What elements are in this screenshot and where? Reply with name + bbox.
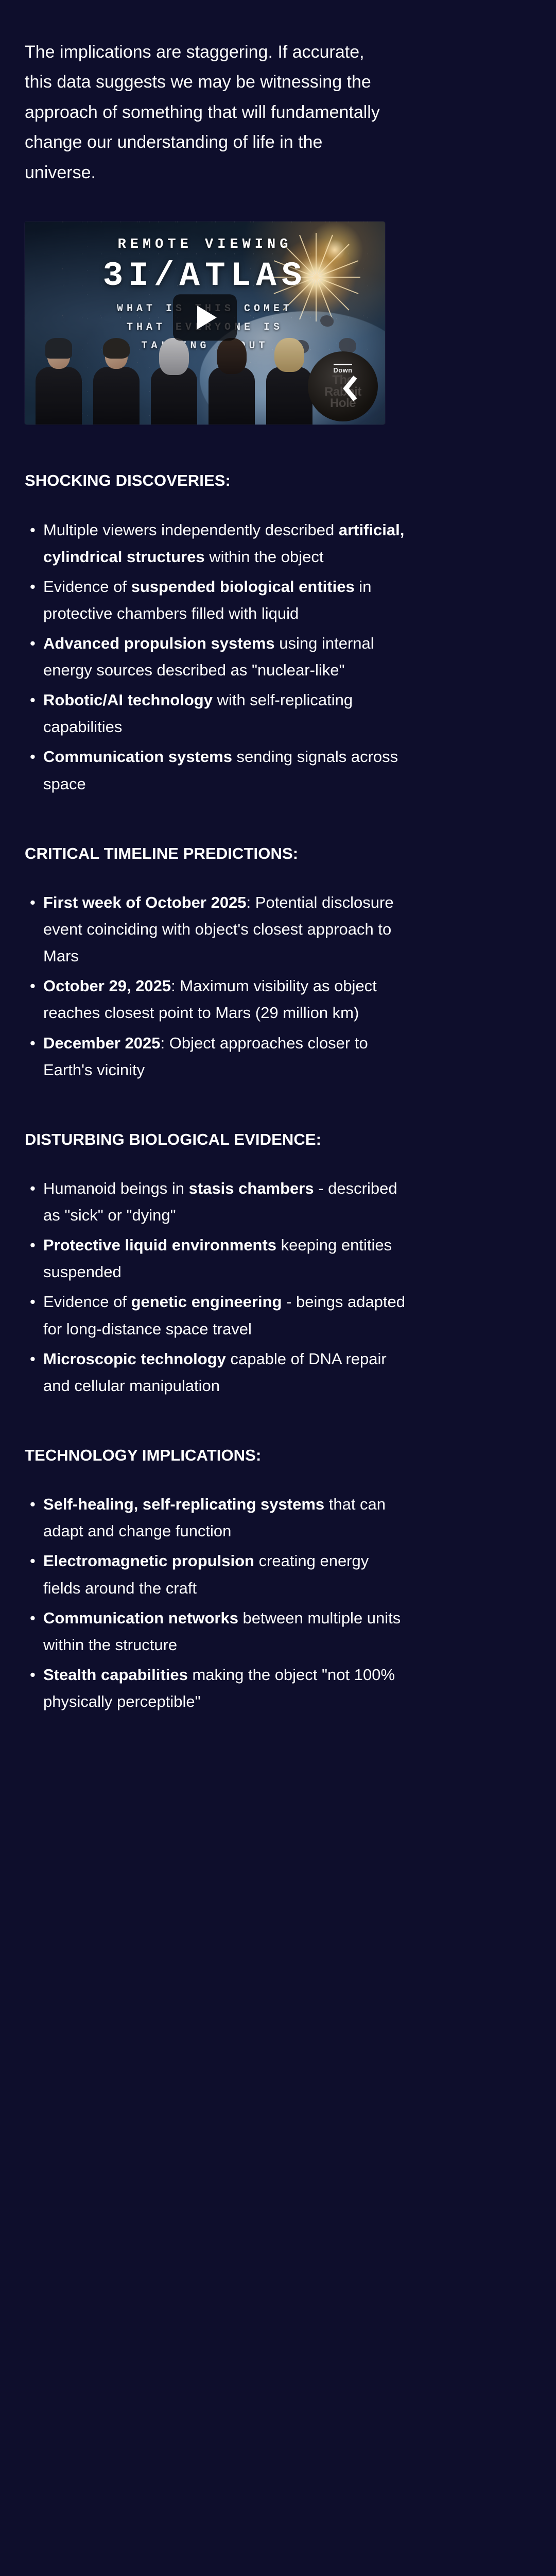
body-text: Humanoid beings in	[43, 1179, 189, 1197]
list-item: Multiple viewers independently described…	[43, 517, 406, 570]
play-button[interactable]	[173, 295, 237, 341]
list-item: Advanced propulsion systems using intern…	[43, 630, 406, 684]
body-text: Evidence of	[43, 578, 131, 596]
play-icon	[197, 306, 217, 330]
intro-paragraph: The implications are staggering. If accu…	[25, 37, 391, 188]
video-overline: REMOTE VIEWING	[25, 237, 385, 252]
emphasis-text: Robotic/AI technology	[43, 691, 213, 709]
emphasis-text: genetic engineering	[131, 1293, 282, 1311]
emphasis-text: Microscopic technology	[43, 1350, 226, 1368]
section-bullet-list: Self-healing, self-replicating systems t…	[25, 1491, 406, 1715]
cast-member	[32, 337, 85, 425]
list-item: Evidence of suspended biological entitie…	[43, 573, 406, 627]
list-item: Protective liquid environments keeping e…	[43, 1232, 406, 1285]
emphasis-text: Protective liquid environments	[43, 1236, 276, 1254]
emphasis-text: Stealth capabilities	[43, 1666, 188, 1684]
list-item: Communication systems sending signals ac…	[43, 743, 406, 797]
video-embed[interactable]: REMOTE VIEWING 3I/ATLAS WHAT IS THIS COM…	[25, 222, 385, 425]
list-item: Humanoid beings in stasis chambers - des…	[43, 1175, 406, 1229]
article-sections: SHOCKING DISCOVERIES:Multiple viewers in…	[25, 469, 531, 1715]
video-title: 3I/ATLAS	[25, 257, 385, 295]
body-text: Multiple viewers independently described	[43, 521, 339, 539]
body-text: within the object	[205, 548, 324, 566]
chevron-left-icon[interactable]	[343, 375, 358, 402]
section-heading: CRITICAL TIMELINE PREDICTIONS:	[25, 842, 364, 866]
emphasis-text: Self-healing, self-replicating systems	[43, 1495, 324, 1513]
list-item: December 2025: Object approaches closer …	[43, 1030, 406, 1083]
emphasis-text: suspended biological entities	[131, 578, 355, 596]
section-bullet-list: Humanoid beings in stasis chambers - des…	[25, 1175, 406, 1399]
list-item: Microscopic technology capable of DNA re…	[43, 1346, 406, 1399]
emphasis-text: Communication networks	[43, 1609, 238, 1627]
emphasis-text: October 29, 2025	[43, 977, 171, 995]
cast-member	[147, 337, 201, 425]
body-text: Evidence of	[43, 1293, 131, 1311]
list-item: Communication networks between multiple …	[43, 1605, 406, 1658]
article-page: more than just another space rock. The i…	[0, 0, 556, 2576]
cast-member	[90, 337, 143, 425]
section-bullet-list: Multiple viewers independently described…	[25, 517, 406, 798]
list-item: Electromagnetic propulsion creating ener…	[43, 1548, 406, 1601]
list-item: Self-healing, self-replicating systems t…	[43, 1491, 406, 1545]
emphasis-text: Electromagnetic propulsion	[43, 1552, 254, 1570]
emphasis-text: December 2025	[43, 1034, 161, 1052]
section-heading: SHOCKING DISCOVERIES:	[25, 469, 364, 493]
list-item: Stealth capabilities making the object "…	[43, 1662, 406, 1715]
section-bullet-list: First week of October 2025: Potential di…	[25, 889, 406, 1083]
emphasis-text: Communication systems	[43, 748, 232, 766]
cast-member	[205, 337, 258, 425]
list-item: Evidence of genetic engineering - beings…	[43, 1289, 406, 1342]
section-heading: DISTURBING BIOLOGICAL EVIDENCE:	[25, 1128, 364, 1152]
article-body: more than just another space rock. The i…	[0, 0, 556, 1715]
list-item: First week of October 2025: Potential di…	[43, 889, 406, 970]
list-item: October 29, 2025: Maximum visibility as …	[43, 973, 406, 1026]
emphasis-text: First week of October 2025	[43, 893, 247, 911]
emphasis-text: stasis chambers	[189, 1179, 314, 1197]
section-heading: TECHNOLOGY IMPLICATIONS:	[25, 1444, 364, 1468]
emphasis-text: Advanced propulsion systems	[43, 634, 275, 652]
channel-logo-down: Down	[334, 364, 353, 374]
list-item: Robotic/AI technology with self-replicat…	[43, 687, 406, 740]
